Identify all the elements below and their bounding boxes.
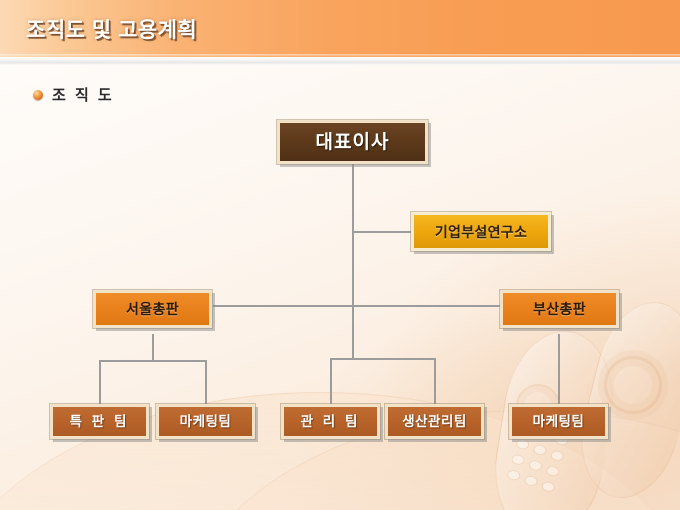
org-node-busan-distributor-label: 부산총판 (533, 302, 586, 316)
org-node-marketing-team-seoul[interactable]: 마케팅팀 (156, 404, 255, 439)
org-node-seoul-distributor[interactable]: 서울총판 (93, 290, 212, 328)
speaker-ring-watermark-icon (599, 351, 666, 418)
org-node-rnd-institute-label: 기업부설연구소 (435, 225, 527, 239)
connector-busan-drop (558, 334, 560, 406)
connector-seoul-team-left (99, 360, 101, 406)
connector-division-rail (213, 305, 523, 307)
section-bullet-row: 조 직 도 (33, 84, 114, 105)
org-node-marketing-team-busan-label: 마케팅팀 (533, 415, 585, 429)
org-node-busan-distributor[interactable]: 부산총판 (500, 290, 619, 328)
org-node-marketing-team-seoul-label: 마케팅팀 (180, 415, 232, 429)
org-node-management-team-label: 관 리 팀 (301, 415, 361, 429)
page-title: 조직도 및 고용계획 (26, 14, 197, 44)
org-node-production-management-team[interactable]: 생산관리팀 (385, 404, 484, 439)
connector-ceo-to-rnd (352, 231, 412, 233)
org-node-rnd-institute[interactable]: 기업부설연구소 (411, 212, 551, 251)
connector-ceo-spine (352, 164, 354, 360)
org-node-ceo-label: 대표이사 (316, 133, 390, 152)
org-node-special-sales-team-label: 특 판 팀 (70, 415, 130, 429)
connector-seoul-split (99, 360, 207, 362)
org-node-management-team[interactable]: 관 리 팀 (281, 404, 380, 439)
org-node-seoul-distributor-label: 서울총판 (126, 302, 179, 316)
org-node-special-sales-team[interactable]: 특 판 팀 (50, 404, 149, 439)
orange-sphere-bullet-icon (33, 90, 43, 100)
connector-center-split (330, 358, 436, 360)
header-divider-rule (0, 57, 680, 65)
org-node-marketing-team-busan[interactable]: 마케팅팀 (509, 404, 608, 439)
connector-center-team-left (330, 358, 332, 406)
org-node-production-management-team-label: 생산관리팀 (402, 415, 467, 429)
slide-canvas: 조직도 및 고용계획 조 직 도 대표이사 기업부설연구소 서울총판 부산총판 … (0, 0, 680, 510)
connector-seoul-team-right (205, 360, 207, 406)
connector-center-team-right (434, 358, 436, 406)
connector-seoul-drop (152, 334, 154, 362)
section-heading: 조 직 도 (52, 84, 114, 105)
org-node-ceo[interactable]: 대표이사 (277, 120, 428, 164)
